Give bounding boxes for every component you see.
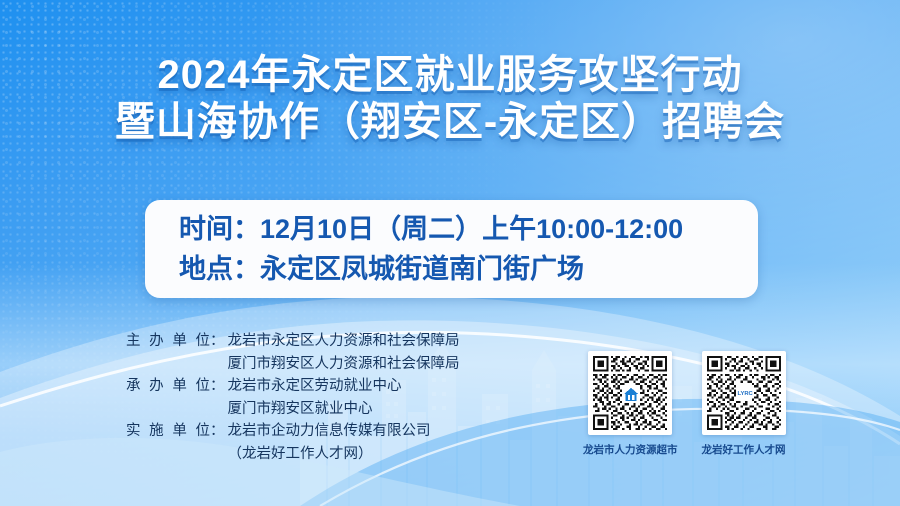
qr-item-haogongzuo[interactable]: LYRC 龙岩好工作人才网	[702, 351, 786, 457]
organizer-colon: ：	[210, 330, 225, 375]
event-place-line: 地点：永定区凤城街道南门街广场	[179, 249, 758, 290]
qr-code-image-2[interactable]: LYRC	[702, 351, 786, 435]
qr-code-matrix-1	[593, 356, 667, 430]
organizer-label-coorganizer: 承办单位	[126, 375, 210, 420]
qr-code-matrix-2: LYRC	[707, 356, 781, 430]
organizer-row-host: 主办单位 ： 龙岩市永定区人力资源和社会保障局 厦门市翔安区人力资源和社会保障局	[126, 330, 460, 375]
organizer-label-host: 主办单位	[126, 330, 210, 375]
qr-caption-1: 龙岩市人力资源超市	[583, 442, 678, 457]
organizer-value: 龙岩市永定区人力资源和社会保障局	[228, 330, 460, 353]
event-time-line: 时间：12月10日（周二）上午10:00-12:00	[179, 209, 758, 250]
organizer-value: 厦门市翔安区就业中心	[228, 398, 402, 421]
organizer-values-host: 龙岩市永定区人力资源和社会保障局 厦门市翔安区人力资源和社会保障局	[228, 330, 460, 375]
event-info-box: 时间：12月10日（周二）上午10:00-12:00 地点：永定区凤城街道南门街…	[145, 200, 758, 298]
organizer-row-executor: 实施单位 ： 龙岩市企动力信息传媒有限公司 （龙岩好工作人才网）	[126, 420, 460, 465]
organizer-label-executor: 实施单位	[126, 420, 210, 465]
qr-caption-2: 龙岩好工作人才网	[702, 442, 786, 457]
organizer-value: 龙岩市企动力信息传媒有限公司	[228, 420, 431, 443]
organizer-value: 龙岩市永定区劳动就业中心	[228, 375, 402, 398]
organizer-colon: ：	[210, 420, 225, 465]
svg-text:LYRC: LYRC	[737, 391, 753, 397]
qr-code-image-1[interactable]	[588, 351, 672, 435]
qr-code-group: 龙岩市人力资源超市	[583, 351, 786, 457]
title-line-2: 暨山海协作（翔安区-永定区）招聘会	[0, 99, 900, 146]
qr-item-renliziyuan[interactable]: 龙岩市人力资源超市	[583, 351, 678, 457]
organizer-value: 厦门市翔安区人力资源和社会保障局	[228, 353, 460, 376]
poster-title: 2024年永定区就业服务攻坚行动 暨山海协作（翔安区-永定区）招聘会	[0, 52, 900, 146]
organizer-value: （龙岩好工作人才网）	[228, 443, 431, 466]
organizer-colon: ：	[210, 375, 225, 420]
event-poster: 2024年永定区就业服务攻坚行动 暨山海协作（翔安区-永定区）招聘会 时间：12…	[0, 0, 900, 506]
organizer-values-coorganizer: 龙岩市永定区劳动就业中心 厦门市翔安区就业中心	[228, 375, 402, 420]
title-line-1: 2024年永定区就业服务攻坚行动	[0, 52, 900, 99]
lyrcw-logo-icon: LYRC	[737, 391, 753, 397]
organizer-list: 主办单位 ： 龙岩市永定区人力资源和社会保障局 厦门市翔安区人力资源和社会保障局…	[126, 330, 460, 465]
organizer-row-coorganizer: 承办单位 ： 龙岩市永定区劳动就业中心 厦门市翔安区就业中心	[126, 375, 460, 420]
organizer-values-executor: 龙岩市企动力信息传媒有限公司 （龙岩好工作人才网）	[228, 420, 431, 465]
